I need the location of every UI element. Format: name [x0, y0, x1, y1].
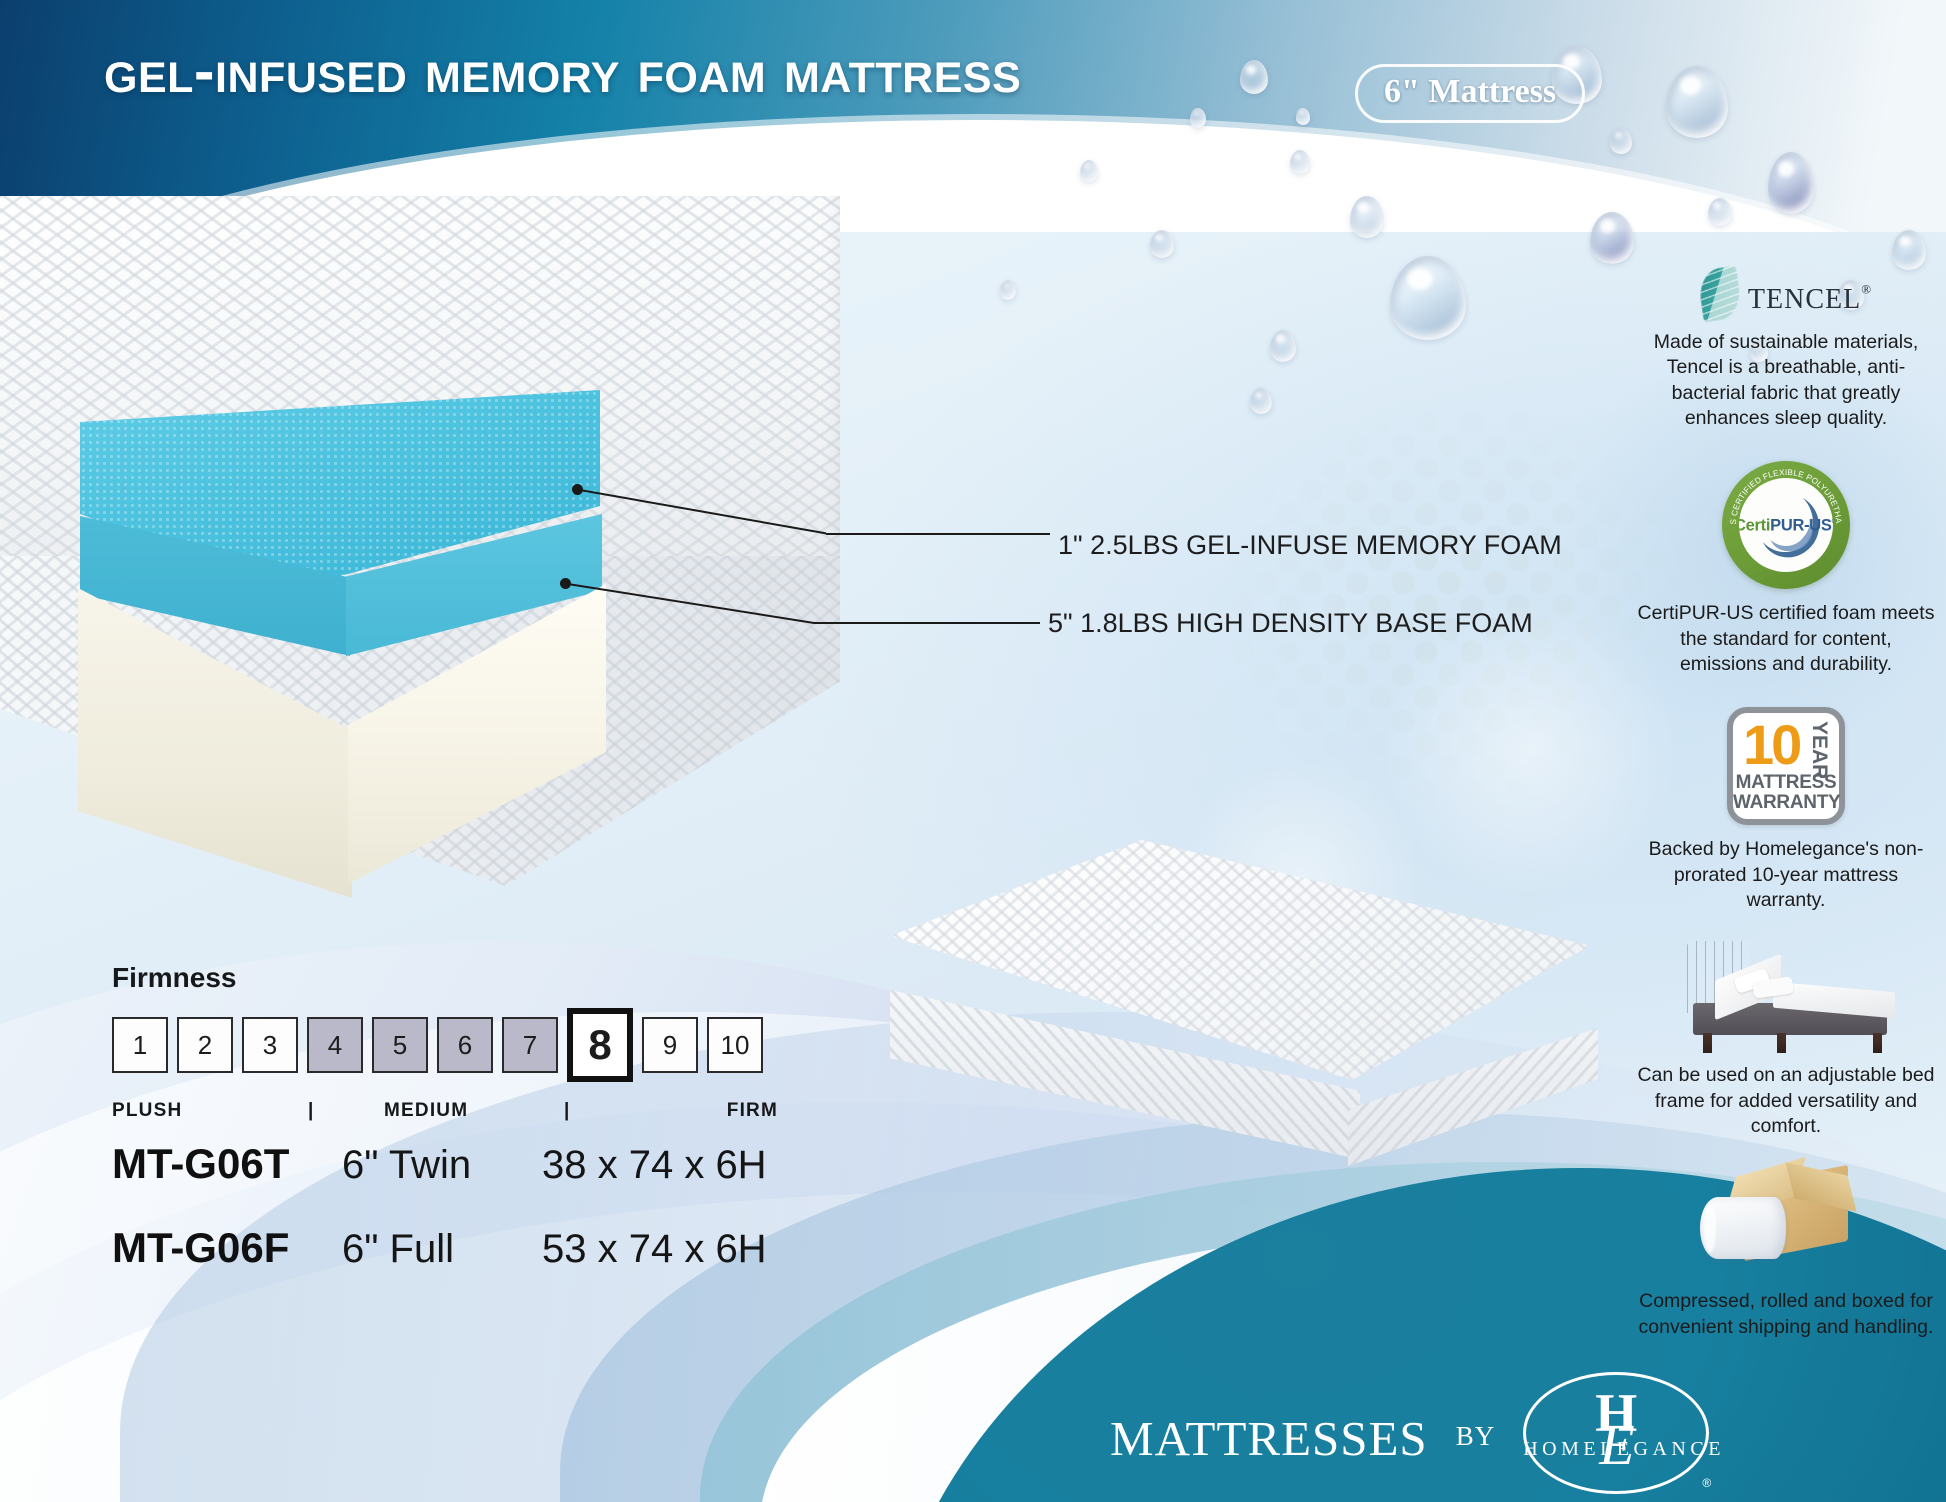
- leaf-icon: [1700, 268, 1740, 320]
- table-row: MT-G06T 6" Twin 38 x 74 x 6H: [112, 1140, 767, 1188]
- leader-segment-horizontal: [826, 533, 1050, 535]
- tencel-wordmark: Tencel®: [1748, 271, 1872, 318]
- leader-segment-diagonal: [568, 583, 815, 624]
- sku-size: 6" Full: [342, 1227, 542, 1272]
- firmness-box-7[interactable]: 7: [502, 1017, 558, 1073]
- firmness-box-8-selected[interactable]: 8: [567, 1008, 633, 1082]
- adjustable-bed-icon: [1673, 941, 1899, 1053]
- feature-boxed-shipping: Compressed, rolled and boxed for conveni…: [1636, 1167, 1936, 1340]
- footer-mattresses-word: Mattresses: [1110, 1393, 1428, 1473]
- footer-brand-lockup: Mattresses by H E HOMELEGANCE ®: [1110, 1372, 1709, 1494]
- water-droplet: [1892, 230, 1926, 270]
- footer-by-word: by: [1456, 1411, 1496, 1455]
- firmness-box-1[interactable]: 1: [112, 1017, 168, 1073]
- bed-leg: [1703, 1033, 1712, 1053]
- leader-segment-horizontal: [814, 622, 1040, 624]
- leader-line-base: [560, 578, 1040, 628]
- firmness-box-2[interactable]: 2: [177, 1017, 233, 1073]
- sku-table: MT-G06T 6" Twin 38 x 74 x 6H MT-G06F 6" …: [112, 1140, 767, 1308]
- leader-line-gel: [572, 484, 1052, 554]
- page-title: Gel-Infused Memory Foam Mattress: [104, 36, 1021, 107]
- registered-mark: ®: [1861, 281, 1872, 296]
- water-droplet: [1610, 128, 1632, 154]
- water-droplet: [1296, 108, 1310, 125]
- bed-leg: [1777, 1033, 1786, 1053]
- boxed-roll-icon: [1686, 1167, 1886, 1279]
- tencel-logo: Tencel®: [1636, 268, 1936, 320]
- feature-adjustable-base: Can be used on an adjustable bed frame f…: [1636, 941, 1936, 1139]
- water-droplet: [1190, 108, 1206, 128]
- firmness-label-plush: PLUSH: [112, 1100, 182, 1122]
- sku-code: MT-G06T: [112, 1140, 342, 1188]
- seal-ring-top-text: CONTAINS CERTIFIED FLEXIBLE POLYURETHANE…: [1722, 461, 1843, 525]
- firmness-scale: Firmness 1 2 3 4 5 6 7 8 9 10 PLUSH | ME…: [112, 962, 778, 1134]
- mattress-product-photo: [890, 840, 1590, 1170]
- feature-caption: Can be used on an adjustable bed frame f…: [1636, 1063, 1936, 1139]
- warranty-year-label: YEAR: [1809, 721, 1830, 779]
- svg-text:WWW.CERTIPUR.US: WWW.CERTIPUR.US: [1748, 546, 1823, 571]
- feature-caption: Made of sustainable materials, Tencel is…: [1636, 330, 1936, 431]
- logo-brand-name: HOMELEGANCE: [1523, 1438, 1709, 1461]
- thickness-badge: 6" Mattress: [1355, 64, 1585, 123]
- firmness-box-9[interactable]: 9: [642, 1017, 698, 1073]
- firmness-box-5[interactable]: 5: [372, 1017, 428, 1073]
- water-droplet: [1240, 60, 1268, 94]
- firmness-box-3[interactable]: 3: [242, 1017, 298, 1073]
- firmness-box-6[interactable]: 6: [437, 1017, 493, 1073]
- bed-leg: [1873, 1033, 1882, 1053]
- firmness-tick-right: |: [564, 1100, 571, 1122]
- water-droplet: [1708, 198, 1732, 226]
- svg-text:CONTAINS CERTIFIED FLEXIBLE PO: CONTAINS CERTIFIED FLEXIBLE POLYURETHANE…: [1722, 461, 1843, 525]
- water-droplet: [1000, 280, 1016, 300]
- mattress-cutaway-illustration: [0, 196, 840, 916]
- certipur-seal: CONTAINS CERTIFIED FLEXIBLE POLYURETHANE…: [1722, 461, 1850, 589]
- seal-ring-text: CONTAINS CERTIFIED FLEXIBLE POLYURETHANE…: [1722, 461, 1850, 589]
- feature-caption: Compressed, rolled and boxed for conveni…: [1636, 1289, 1936, 1340]
- firmness-tick-left: |: [308, 1100, 315, 1122]
- firmness-box-row: 1 2 3 4 5 6 7 8 9 10: [112, 1008, 778, 1082]
- water-droplet: [1350, 196, 1384, 238]
- water-droplet: [1150, 230, 1174, 258]
- leader-segment-diagonal: [580, 489, 827, 534]
- callout-base-foam: 5" 1.8LBS HIGH DENSITY BASE FOAM: [1048, 608, 1533, 639]
- rolled-mattress: [1700, 1197, 1786, 1259]
- warranty-text: MATTRESS WARRANTY: [1733, 773, 1839, 813]
- warranty-badge: 10 YEAR MATTRESS WARRANTY: [1727, 707, 1845, 825]
- feature-tencel: Tencel® Made of sustainable materials, T…: [1636, 268, 1936, 431]
- water-droplet: [1270, 330, 1296, 362]
- water-droplet: [1290, 150, 1310, 174]
- callout-gel-layer: 1" 2.5LBS GEL-INFUSE MEMORY FOAM: [1058, 530, 1562, 561]
- firmness-box-10[interactable]: 10: [707, 1017, 763, 1073]
- feature-rail: Tencel® Made of sustainable materials, T…: [1636, 268, 1936, 1366]
- registered-mark: ®: [1702, 1476, 1711, 1490]
- spec-sheet: Gel-Infused Memory Foam Mattress 6" Matt…: [0, 0, 1946, 1502]
- seal-ring-bottom-text: WWW.CERTIPUR.US: [1748, 546, 1823, 571]
- firmness-axis-labels: PLUSH | MEDIUM | FIRM: [112, 1100, 778, 1134]
- warranty-number: 10: [1743, 717, 1799, 773]
- firmness-title: Firmness: [112, 962, 778, 994]
- homelegance-logo: H E HOMELEGANCE ®: [1523, 1372, 1709, 1494]
- feature-warranty: 10 YEAR MATTRESS WARRANTY Backed by Home…: [1636, 707, 1936, 913]
- water-droplet: [1080, 160, 1098, 182]
- sku-dimensions: 53 x 74 x 6H: [542, 1227, 767, 1272]
- sku-dimensions: 38 x 74 x 6H: [542, 1143, 767, 1188]
- water-droplet: [1250, 388, 1272, 414]
- sku-size: 6" Twin: [342, 1143, 542, 1188]
- feature-caption: CertiPUR-US certified foam meets the sta…: [1636, 601, 1936, 677]
- feature-caption: Backed by Homelegance's non-prorated 10-…: [1636, 837, 1936, 913]
- firmness-label-firm: FIRM: [727, 1100, 778, 1122]
- firmness-label-medium: MEDIUM: [384, 1100, 468, 1122]
- feature-certipur: CONTAINS CERTIFIED FLEXIBLE POLYURETHANE…: [1636, 461, 1936, 677]
- firmness-box-4[interactable]: 4: [307, 1017, 363, 1073]
- table-row: MT-G06F 6" Full 53 x 74 x 6H: [112, 1224, 767, 1272]
- sku-code: MT-G06F: [112, 1224, 342, 1272]
